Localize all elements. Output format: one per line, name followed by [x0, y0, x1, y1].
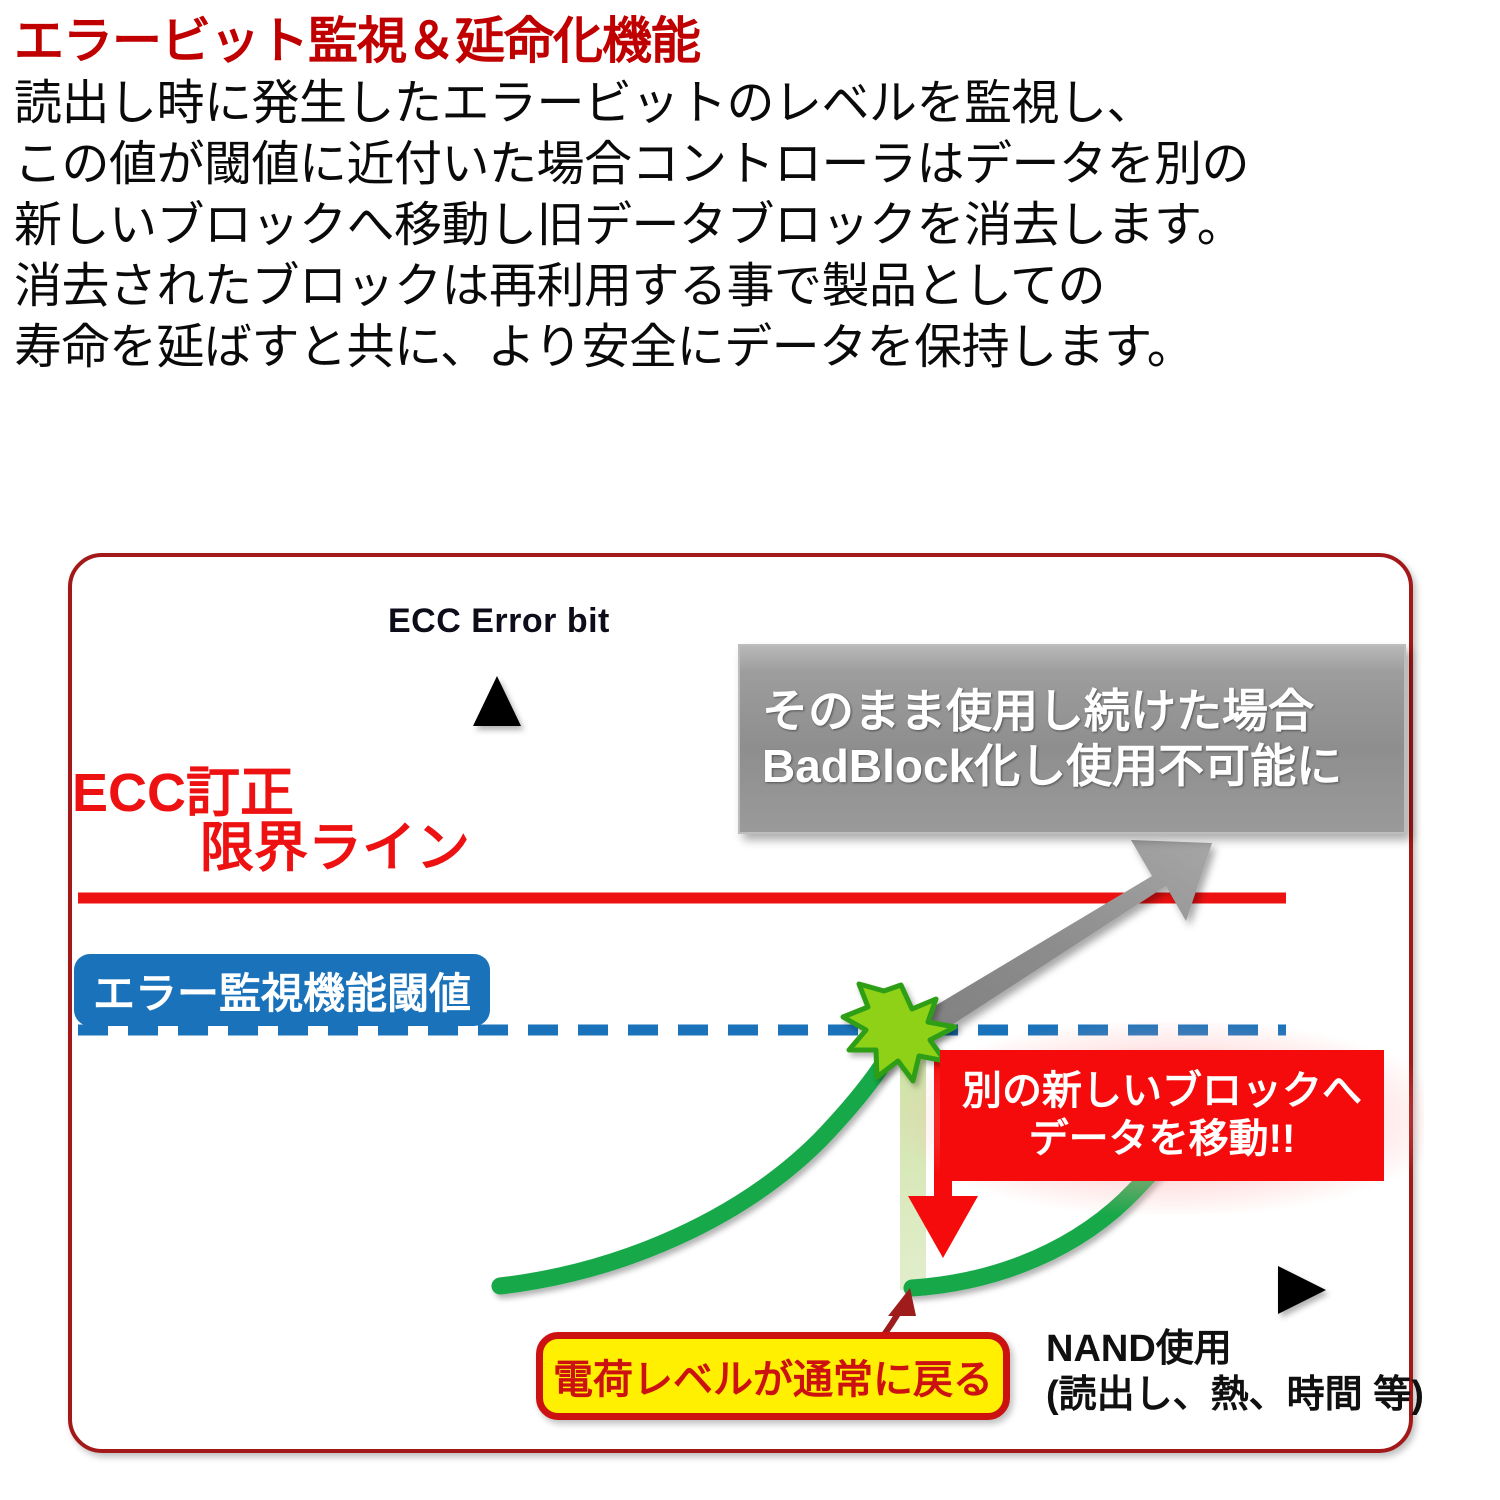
x-axis-label: NAND使用 (読出し、熱、時間 等) [1046, 1326, 1424, 1419]
diagram-graphics-layer: ECC Error bit ECC訂正 限界ライン エラー監視機能閾値 そのまま… [0, 0, 1500, 1500]
move-data-line-1: 別の新しいブロックへ [962, 1068, 1362, 1115]
badblock-callout-box: そのまま使用し続けた場合 BadBlock化し使用不可能に [738, 644, 1406, 834]
ecc-limit-label: ECC訂正 限界ライン [72, 766, 470, 876]
move-data-callout-box: 別の新しいブロックへ データを移動!! [940, 1050, 1384, 1181]
error-threshold-badge: エラー監視機能閾値 [74, 954, 490, 1026]
ecc-limit-label-line2: 限界ライン [72, 821, 470, 876]
y-axis-label: ECC Error bit [388, 602, 610, 641]
move-data-line-2: データを移動!! [1029, 1116, 1296, 1163]
error-growth-curve-before [500, 1030, 903, 1286]
charge-reset-callout-box: 電荷レベルが通常に戻る [536, 1332, 1010, 1420]
badblock-projection-arrow [898, 840, 1212, 1047]
x-axis-label-line2: (読出し、熱、時間 等) [1046, 1372, 1424, 1418]
x-axis-label-line1: NAND使用 [1046, 1326, 1424, 1372]
ecc-limit-label-line1: ECC訂正 [72, 763, 294, 823]
badblock-line-1: そのまま使用し続けた場合 [762, 684, 1314, 739]
badblock-line-2: BadBlock化し使用不可能に [762, 739, 1342, 794]
